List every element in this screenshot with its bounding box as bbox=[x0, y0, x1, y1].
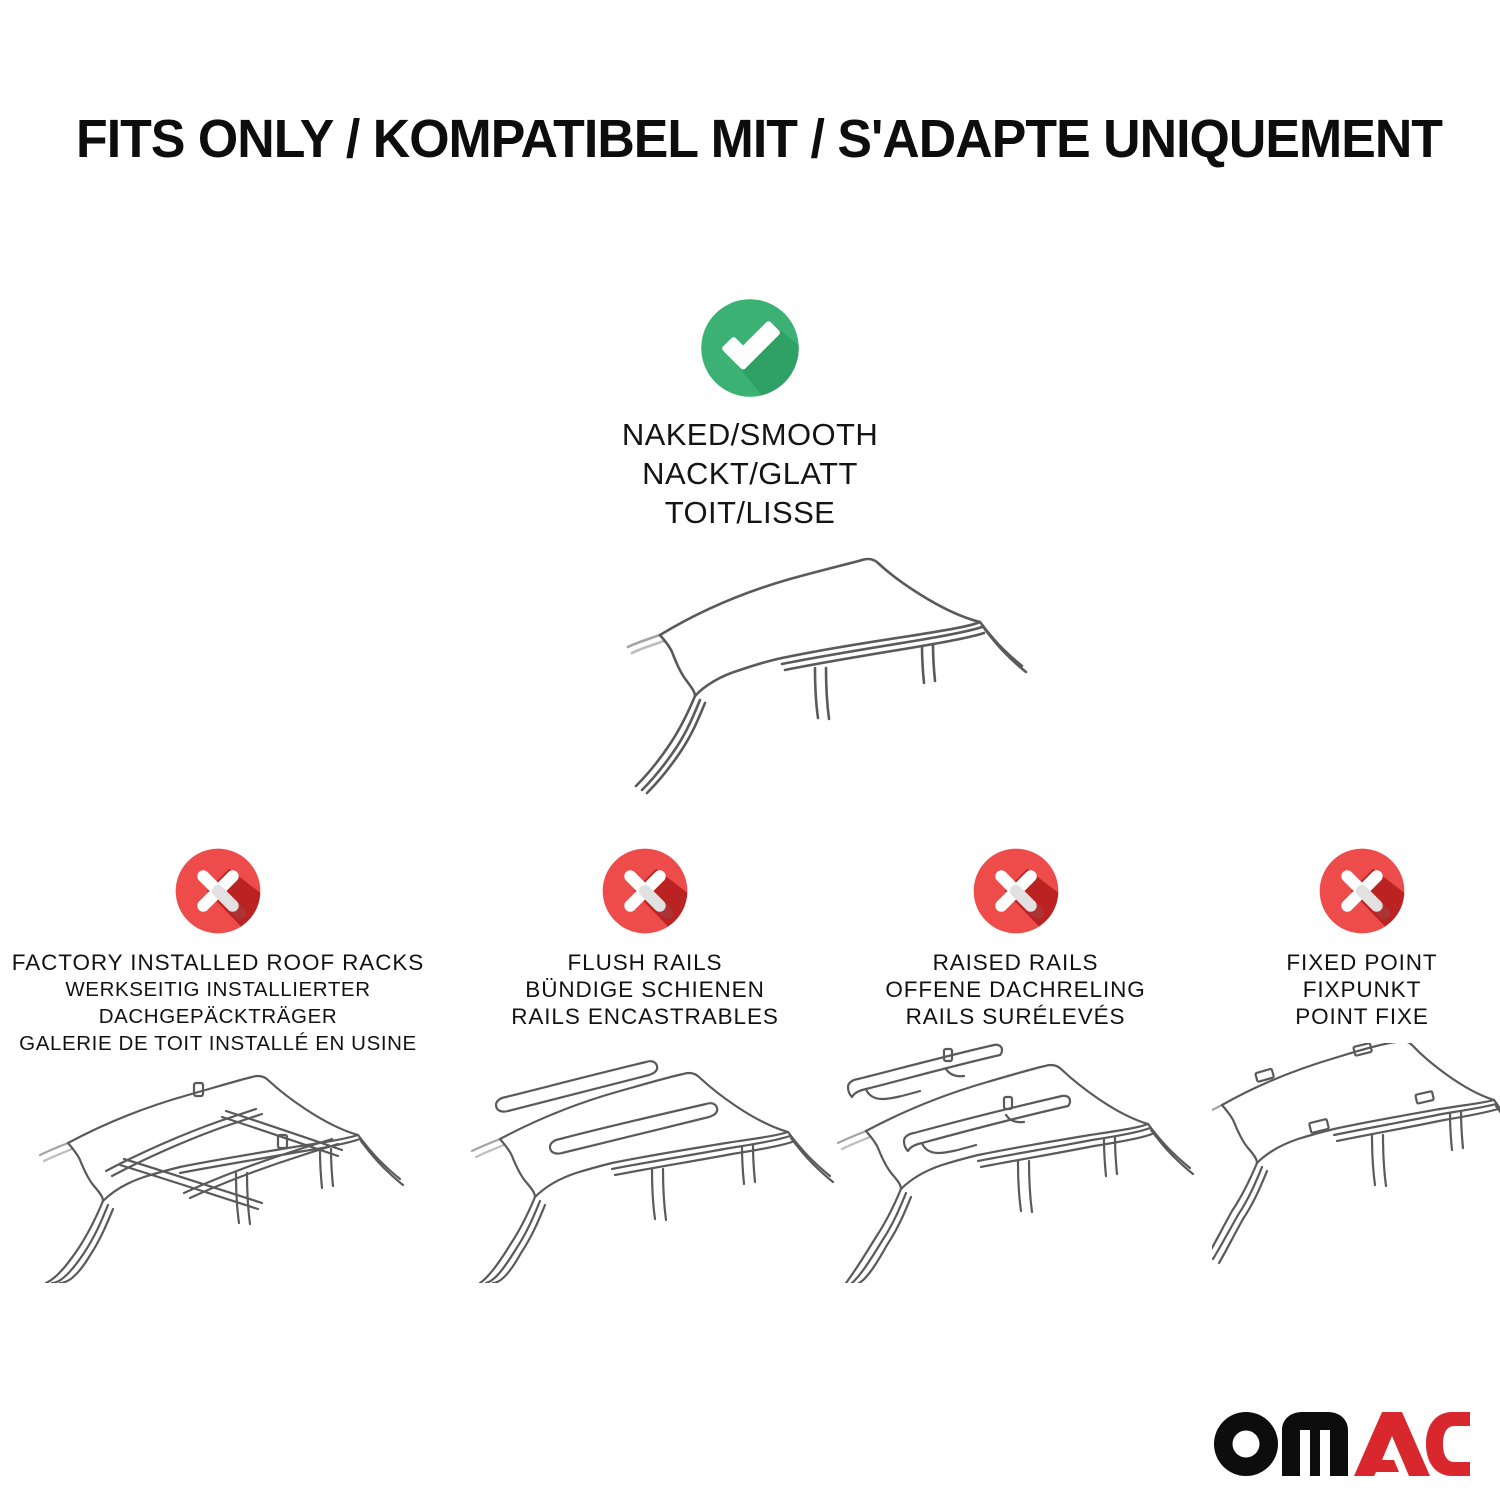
compatible-line-de: NACKT/GLATT bbox=[520, 454, 980, 493]
caption-line-de: FIXPUNKT bbox=[1212, 976, 1500, 1003]
omac-logo bbox=[1210, 1406, 1470, 1478]
logo-letter-a bbox=[1354, 1412, 1430, 1476]
car-roof-flush-rails-illustration bbox=[450, 1043, 840, 1283]
check-circle-icon bbox=[697, 295, 803, 401]
caption-line-de-2: DACHGEPÄCKTRÄGER bbox=[8, 1003, 428, 1030]
logo-letter-c bbox=[1426, 1412, 1470, 1476]
incompatible-row: FACTORY INSTALLED ROOF RACKS WERKSEITIG … bbox=[0, 845, 1500, 1485]
incompatible-item-flush-rails: FLUSH RAILS BÜNDIGE SCHIENEN RAILS ENCAS… bbox=[450, 845, 840, 1030]
car-roof-naked-smooth-illustration bbox=[490, 500, 1050, 800]
incompatible-caption-fixed-point: FIXED POINT FIXPUNKT POINT FIXE bbox=[1212, 949, 1500, 1030]
incompatible-item-raised-rails: RAISED RAILS OFFENE DACHRELING RAILS SUR… bbox=[828, 845, 1203, 1030]
caption-line-de: OFFENE DACHRELING bbox=[828, 976, 1203, 1003]
incompatible-caption-flush-rails: FLUSH RAILS BÜNDIGE SCHIENEN RAILS ENCAS… bbox=[450, 949, 840, 1030]
caption-line-en: RAISED RAILS bbox=[828, 949, 1203, 976]
cross-circle-icon bbox=[1316, 845, 1408, 937]
caption-line-de-1: WERKSEITIG INSTALLIERTER bbox=[8, 976, 428, 1003]
caption-line-de: BÜNDIGE SCHIENEN bbox=[450, 976, 840, 1003]
compatible-line-en: NAKED/SMOOTH bbox=[520, 415, 980, 454]
car-roof-raised-rails-illustration bbox=[828, 1043, 1203, 1283]
car-roof-factory-racks-illustration bbox=[8, 1043, 428, 1283]
page-title: FITS ONLY / KOMPATIBEL MIT / S'ADAPTE UN… bbox=[76, 108, 1372, 170]
cross-circle-icon bbox=[970, 845, 1062, 937]
caption-line-fr: RAILS SURÉLEVÉS bbox=[828, 1003, 1203, 1030]
caption-line-fr: RAILS ENCASTRABLES bbox=[450, 1003, 840, 1030]
cross-circle-icon bbox=[172, 845, 264, 937]
compatible-block: NAKED/SMOOTH NACKT/GLATT TOIT/LISSE bbox=[520, 295, 980, 532]
incompatible-caption-factory-racks: FACTORY INSTALLED ROOF RACKS WERKSEITIG … bbox=[8, 949, 428, 1057]
incompatible-item-factory-racks: FACTORY INSTALLED ROOF RACKS WERKSEITIG … bbox=[8, 845, 428, 1057]
caption-line-en: FACTORY INSTALLED ROOF RACKS bbox=[8, 949, 428, 976]
logo-letter-o bbox=[1214, 1412, 1278, 1476]
caption-line-fr: POINT FIXE bbox=[1212, 1003, 1500, 1030]
incompatible-item-fixed-point: FIXED POINT FIXPUNKT POINT FIXE bbox=[1212, 845, 1500, 1030]
cross-circle-icon bbox=[599, 845, 691, 937]
caption-line-en: FIXED POINT bbox=[1212, 949, 1500, 976]
incompatible-caption-raised-rails: RAISED RAILS OFFENE DACHRELING RAILS SUR… bbox=[828, 949, 1203, 1030]
logo-letter-m bbox=[1282, 1412, 1348, 1476]
caption-line-en: FLUSH RAILS bbox=[450, 949, 840, 976]
car-roof-fixed-point-illustration bbox=[1212, 1043, 1500, 1283]
